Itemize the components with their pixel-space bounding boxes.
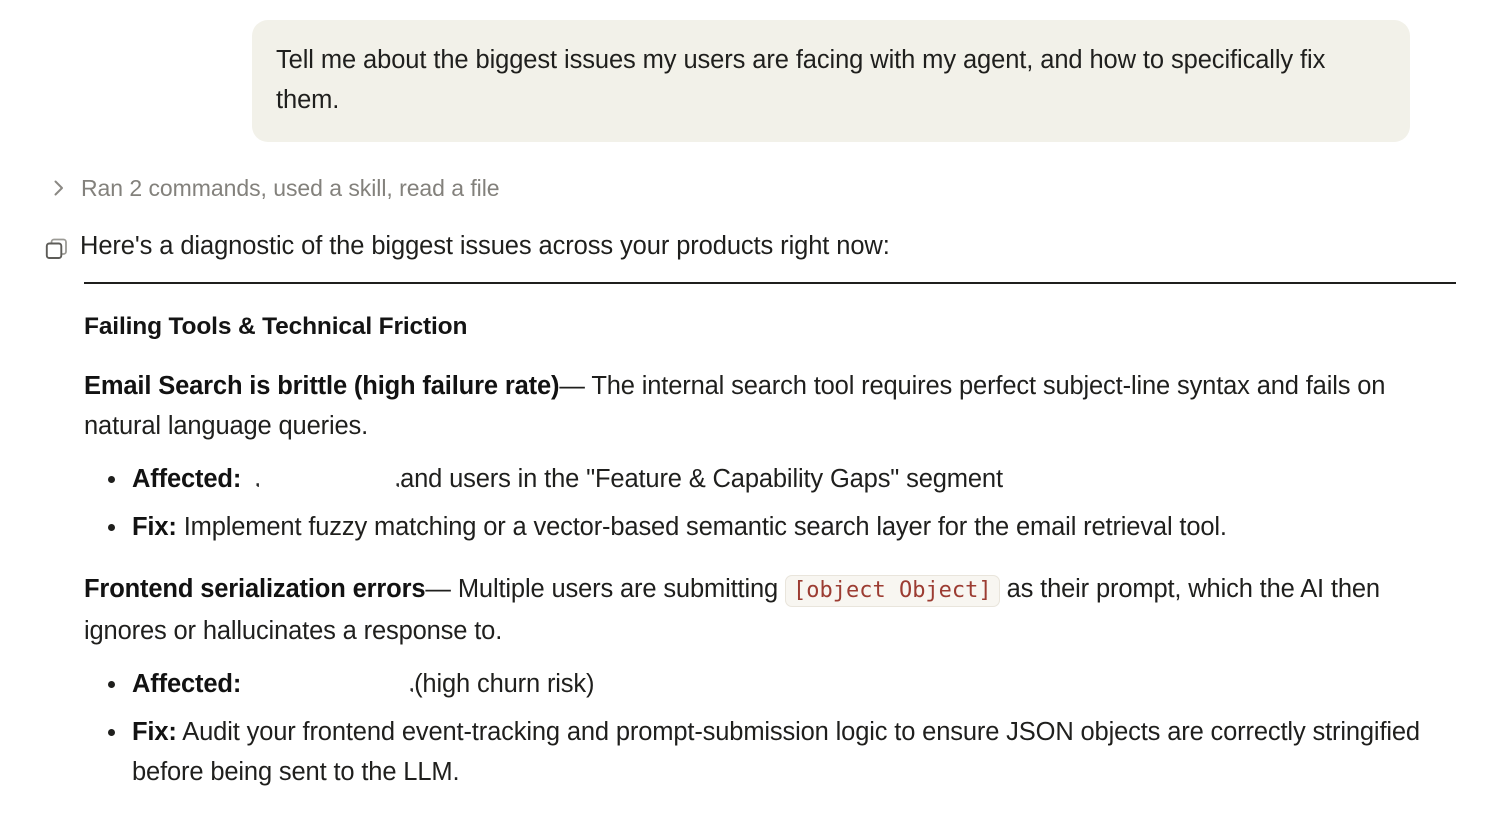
user-message-text: Tell me about the biggest issues my user… [276, 40, 1386, 120]
assistant-lead-text: Here's a diagnostic of the biggest issue… [80, 227, 890, 265]
assistant-lead-row: Here's a diagnostic of the biggest issue… [0, 227, 1494, 265]
tool-use-summary-label: Ran 2 commands, used a skill, read a fil… [81, 173, 500, 203]
bullet-text: Implement fuzzy matching or a vector-bas… [184, 513, 1227, 541]
redacted-customer-names: , , [248, 462, 400, 488]
issue-title: Frontend serialization errors [84, 575, 425, 603]
bullet-label: Fix: [132, 718, 177, 746]
bullet-text: (high churn risk) [414, 670, 594, 698]
issue-description-before-code: Multiple users are submitting [451, 575, 785, 603]
list-item: Affected: , (high churn risk) [84, 664, 1456, 704]
inline-code-object-object: [object Object] [785, 575, 1000, 607]
bullet-text: Audit your frontend event-tracking and p… [132, 718, 1420, 786]
list-item: Fix: Audit your frontend event-tracking … [84, 712, 1456, 792]
bullet-label: Affected: [132, 465, 241, 493]
user-message-bubble: Tell me about the biggest issues my user… [252, 20, 1410, 142]
user-message-row: Tell me about the biggest issues my user… [0, 0, 1494, 142]
chevron-right-icon[interactable] [48, 177, 70, 199]
assistant-answer-body: Failing Tools & Technical Friction Email… [0, 282, 1494, 792]
issue-title: Email Search is brittle (high failure ra… [84, 372, 559, 400]
issue-paragraph-email-search: Email Search is brittle (high failure ra… [84, 366, 1456, 446]
section-heading: Failing Tools & Technical Friction [84, 310, 1456, 344]
issue-bullets-frontend-serialization: Affected: , (high churn risk) Fix: Audit… [84, 664, 1456, 792]
issue-bullets-email-search: Affected: , , and users in the "Feature … [84, 459, 1456, 547]
section-divider [84, 282, 1456, 284]
conversation-thread: Tell me about the biggest issues my user… [0, 0, 1494, 824]
bullet-label: Fix: [132, 513, 177, 541]
list-item: Fix: Implement fuzzy matching or a vecto… [84, 507, 1456, 547]
em-dash: — [559, 372, 585, 400]
list-item: Affected: , , and users in the "Feature … [84, 459, 1456, 499]
bullet-text: and users in the "Feature & Capability G… [400, 465, 1003, 493]
em-dash: — [425, 575, 451, 603]
assistant-message: Here's a diagnostic of the biggest issue… [0, 203, 1494, 792]
copy-stacked-squares-icon[interactable] [44, 236, 70, 262]
tool-use-summary-toggle[interactable]: Ran 2 commands, used a skill, read a fil… [0, 142, 500, 203]
redacted-customer-names: , [248, 667, 414, 693]
issue-paragraph-frontend-serialization: Frontend serialization errors— Multiple … [84, 569, 1456, 651]
bullet-label: Affected: [132, 670, 241, 698]
